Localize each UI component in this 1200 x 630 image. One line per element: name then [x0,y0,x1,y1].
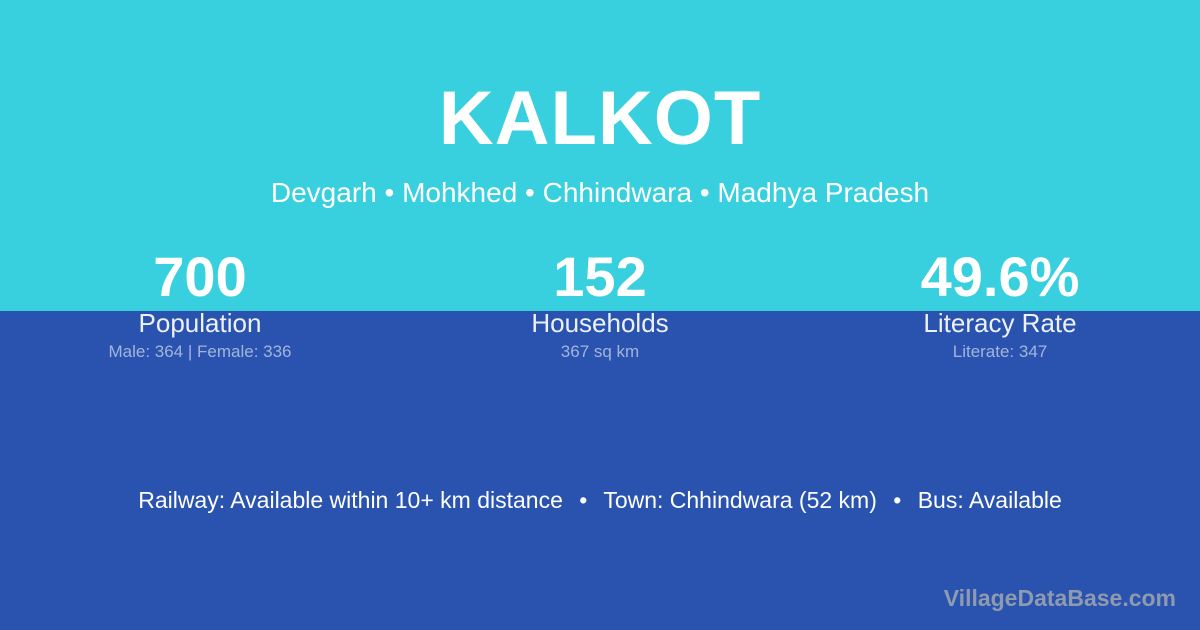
stat-value: 49.6% [800,248,1200,306]
card-header: KALKOT Devgarh • Mohkhed • Chhindwara • … [0,0,1200,207]
amenity-separator: • [883,487,911,513]
page-title: KALKOT [0,0,1200,157]
stat-value: 152 [400,248,800,306]
village-info-card: KALKOT Devgarh • Mohkhed • Chhindwara • … [0,0,1200,630]
breadcrumb: Devgarh • Mohkhed • Chhindwara • Madhya … [0,157,1200,207]
amenity-town: Town: Chhindwara (52 km) [603,487,877,513]
stats-row: 700 Population Male: 364 | Female: 336 1… [0,248,1200,364]
stat-subtext: Male: 364 | Female: 336 [0,340,400,364]
amenities-line: Railway: Available within 10+ km distanc… [0,485,1200,515]
stat-literacy-rate: 49.6% Literacy Rate Literate: 347 [800,248,1200,364]
amenity-railway: Railway: Available within 10+ km distanc… [138,487,563,513]
site-watermark: VillageDataBase.com [944,584,1176,612]
stat-label: Households [400,306,800,340]
stat-label: Literacy Rate [800,306,1200,340]
amenity-bus: Bus: Available [918,487,1062,513]
amenity-separator: • [569,487,597,513]
stat-households: 152 Households 367 sq km [400,248,800,364]
stat-subtext: Literate: 347 [800,340,1200,364]
stat-subtext: 367 sq km [400,340,800,364]
stat-label: Population [0,306,400,340]
stat-value: 700 [0,248,400,306]
stat-population: 700 Population Male: 364 | Female: 336 [0,248,400,364]
